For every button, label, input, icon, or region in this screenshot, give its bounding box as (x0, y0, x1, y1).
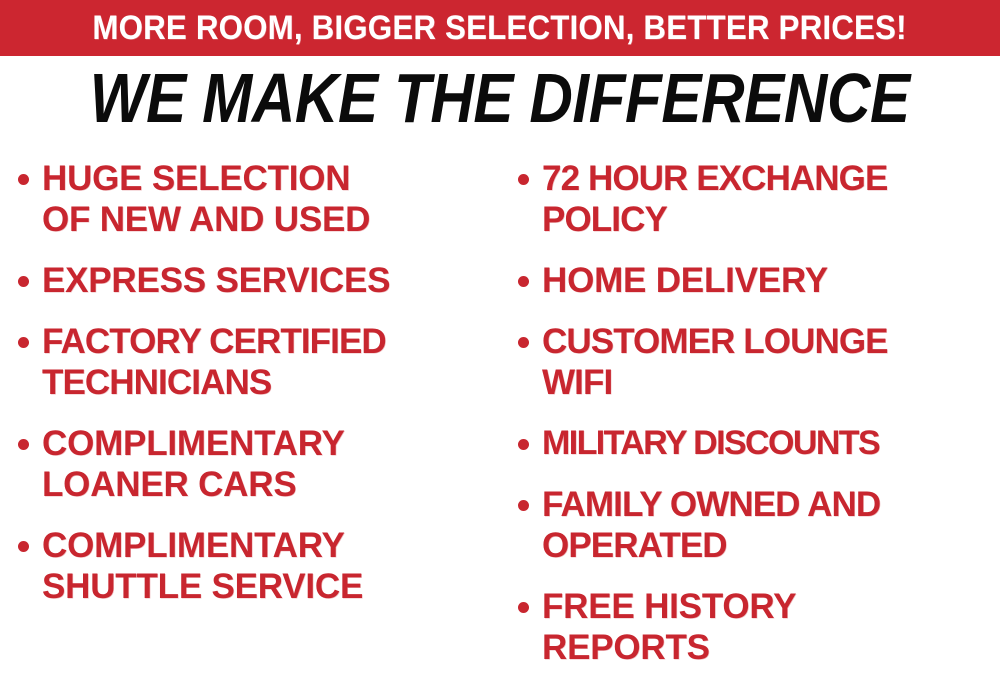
list-item: MILITARY DISCOUNTS (518, 423, 1000, 464)
bullet-dot-icon (518, 174, 529, 185)
list-item-label: FAMILY OWNED AND OPERATED (542, 484, 880, 566)
list-item: FREE HISTORY REPORTS (518, 586, 1000, 668)
list-item: COMPLIMENTARY SHUTTLE SERVICE (18, 525, 498, 607)
list-item: HUGE SELECTION OF NEW AND USED (18, 158, 498, 240)
benefits-columns: HUGE SELECTION OF NEW AND USED EXPRESS S… (0, 158, 1000, 694)
list-item: HOME DELIVERY (518, 260, 1000, 301)
list-item-label: MILITARY DISCOUNTS (542, 423, 879, 464)
bullet-dot-icon (518, 276, 529, 287)
list-item: 72 HOUR EXCHANGE POLICY (518, 158, 1000, 240)
list-item: EXPRESS SERVICES (18, 260, 498, 301)
list-item-label: HUGE SELECTION OF NEW AND USED (42, 158, 370, 240)
bullet-dot-icon (518, 602, 529, 613)
benefits-column-right: 72 HOUR EXCHANGE POLICY HOME DELIVERY CU… (518, 158, 1000, 688)
promo-banner: MORE ROOM, BIGGER SELECTION, BETTER PRIC… (0, 0, 1000, 56)
list-item-label: COMPLIMENTARY SHUTTLE SERVICE (42, 525, 363, 607)
list-item: CUSTOMER LOUNGE WIFI (518, 321, 1000, 403)
list-item: FACTORY CERTIFIED TECHNICIANS (18, 321, 498, 403)
list-item-label: FACTORY CERTIFIED TECHNICIANS (42, 321, 386, 403)
bullet-dot-icon (18, 541, 29, 552)
benefits-column-left: HUGE SELECTION OF NEW AND USED EXPRESS S… (18, 158, 498, 627)
bullet-dot-icon (18, 439, 29, 450)
list-item-label: FREE HISTORY REPORTS (542, 586, 796, 668)
promo-banner-text: MORE ROOM, BIGGER SELECTION, BETTER PRIC… (93, 11, 907, 45)
bullet-dot-icon (518, 500, 529, 511)
list-item-label: HOME DELIVERY (542, 260, 828, 301)
list-item: COMPLIMENTARY LOANER CARS (18, 423, 498, 505)
headline: WE MAKE THE DIFFERENCE (0, 62, 1000, 134)
list-item-label: 72 HOUR EXCHANGE POLICY (542, 158, 887, 240)
bullet-dot-icon (18, 174, 29, 185)
bullet-dot-icon (518, 439, 529, 450)
bullet-dot-icon (518, 337, 529, 348)
list-item-label: CUSTOMER LOUNGE WIFI (542, 321, 888, 403)
headline-text: WE MAKE THE DIFFERENCE (90, 62, 910, 134)
bullet-dot-icon (18, 276, 29, 287)
list-item-label: EXPRESS SERVICES (42, 260, 390, 301)
bullet-dot-icon (18, 337, 29, 348)
list-item: FAMILY OWNED AND OPERATED (518, 484, 1000, 566)
list-item-label: COMPLIMENTARY LOANER CARS (42, 423, 345, 505)
